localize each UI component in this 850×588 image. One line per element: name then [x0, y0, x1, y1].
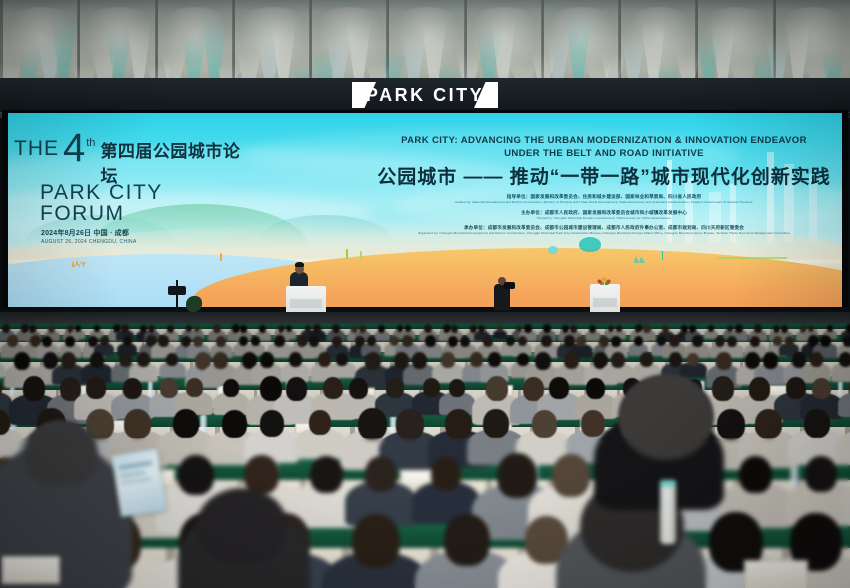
logo-date-en: AUGUST 26, 2024 CHENGDU, CHINA: [41, 239, 244, 245]
attendee-head: [100, 336, 109, 346]
organizer-line-2: 主办单位：成都市人民政府、国家发展和改革委员会城市和小城镇改革发展中心 Host…: [358, 210, 842, 221]
attendee-head: [739, 456, 772, 493]
logo-ordinal: th: [86, 137, 95, 149]
attendee-head: [483, 409, 509, 438]
attendee-head: [178, 455, 214, 495]
logo-the: THE: [14, 139, 59, 159]
attendee-head: [75, 325, 81, 332]
attendee-head: [94, 325, 100, 332]
organizer-2-en: Hosted by: Chengdu Municipal People's Go…: [358, 216, 842, 221]
attendee-head: [750, 336, 760, 347]
attendee-head: [48, 325, 55, 333]
attendee-head: [260, 352, 274, 368]
attendee-head: [158, 335, 169, 347]
attendee-head: [260, 410, 284, 437]
attendee-head: [460, 336, 470, 347]
attendee-head: [640, 352, 653, 367]
attendee-head: [323, 377, 343, 399]
attendee-head: [396, 409, 424, 440]
foreground-attendee-center-head: [196, 488, 288, 566]
attendee-head: [173, 409, 199, 438]
attendee-head: [786, 377, 806, 399]
attendee-head: [716, 352, 732, 370]
attendee-head: [137, 352, 150, 367]
attendee-head: [586, 378, 605, 399]
attendee-head: [309, 410, 331, 435]
attendee-head: [470, 352, 483, 367]
tripod-leg: [176, 280, 178, 312]
attendee-head: [193, 336, 203, 347]
attendee-head: [717, 409, 745, 440]
attendee-head: [564, 352, 579, 369]
attendee-head: [425, 335, 436, 347]
attendee-head: [735, 324, 743, 333]
floral-arrangement: [596, 276, 614, 285]
attendee-head: [518, 336, 527, 346]
attendee-head: [359, 325, 366, 333]
attendee-head: [669, 352, 682, 367]
attendee-head: [349, 378, 368, 399]
attendee-head: [167, 325, 174, 333]
organizer-line-1: 指导单位：国家发展和改革委员会、住房和城乡建设部、国家林业和草原局、四川省人民政…: [358, 194, 842, 205]
organizer-line-3: 承办单位：成都市发展和改革委员会、成都市公园城市建设管理局、成都市人民政府外事办…: [358, 225, 842, 236]
headline-chinese: 公园城市 —— 推动“一带一路”城市现代化创新实践: [358, 167, 842, 189]
water-bottle: [838, 381, 843, 396]
attendee-head: [378, 325, 385, 333]
attendee-head: [754, 324, 762, 333]
thermos-flask: [660, 480, 676, 544]
attendee-head: [669, 335, 680, 347]
attendee-head: [689, 325, 696, 333]
attendee-head: [687, 353, 699, 366]
attendee-head: [223, 379, 239, 397]
attendee-head: [843, 336, 850, 347]
video-camera-icon: [504, 282, 515, 289]
attendee-head: [148, 325, 155, 333]
foreground-attendee-left-head: [24, 420, 98, 486]
attendee-head: [497, 325, 503, 332]
attendee-head: [412, 352, 427, 369]
attendee-head: [820, 335, 831, 347]
led-screen: THE 4 th 第四届公园城市论坛 PARK CITY FORUM 2024年…: [8, 113, 842, 310]
attendee-head: [213, 324, 221, 333]
attendee-head: [222, 410, 247, 438]
attendee-head: [549, 377, 569, 399]
name-card: [2, 556, 60, 584]
attendee-head: [810, 352, 823, 367]
attendee-head: [286, 325, 292, 332]
attendee-head: [708, 325, 714, 332]
attendee-head: [449, 379, 465, 397]
water-bottle: [148, 381, 153, 396]
attendee-head: [240, 325, 247, 333]
attendee-head: [186, 378, 203, 397]
attendee-head: [781, 325, 788, 333]
attendee-head: [535, 352, 551, 370]
attendee-head: [424, 324, 432, 333]
attendee-head: [65, 336, 75, 347]
stage-plant: [186, 296, 202, 312]
attendee-head: [166, 353, 178, 366]
attendee-head: [727, 336, 737, 347]
attendee-head: [541, 335, 552, 347]
attendee-head: [497, 453, 537, 498]
attendee-head: [524, 324, 532, 333]
attendee-head: [23, 376, 45, 401]
attendee-head: [358, 408, 387, 440]
attendee-head: [755, 409, 782, 439]
program-booklet: [111, 449, 166, 517]
attendee-head: [318, 352, 331, 367]
name-card: [744, 560, 808, 588]
attendee-head: [309, 336, 319, 347]
attendee-head: [367, 336, 376, 346]
attendee-head: [286, 377, 307, 401]
audience-area: [0, 312, 850, 588]
attendee-head: [289, 352, 302, 367]
attendee-head: [611, 336, 621, 347]
screen-headline: PARK CITY: ADVANCING THE URBAN MODERNIZA…: [358, 135, 842, 236]
attendee-head: [478, 325, 485, 333]
attendee-head: [662, 325, 669, 333]
attendee-head: [805, 456, 837, 492]
organizer-1-en: Guided by: National Development and Refo…: [358, 200, 842, 205]
attendee-head: [488, 352, 501, 367]
attendee-head: [42, 336, 52, 347]
attendee-head: [160, 378, 178, 398]
attendee-head: [365, 352, 381, 370]
attendee-head: [576, 336, 586, 347]
attendee-head: [451, 325, 458, 333]
attendee-head: [259, 325, 266, 333]
attendee-head: [124, 409, 151, 439]
attendee-head: [274, 335, 285, 347]
attendee-head: [402, 335, 413, 347]
attendee-head: [119, 352, 132, 367]
attendee-head: [552, 454, 590, 497]
attendee-head: [532, 410, 557, 438]
conference-hall-scene: PARK CITY: [0, 0, 850, 588]
attendee-head: [616, 325, 622, 332]
attendee-head: [808, 325, 814, 332]
attendee-head: [634, 336, 643, 346]
attendee-head: [123, 336, 132, 346]
logo-line-forum: FORUM: [40, 203, 244, 224]
attendee-head: [123, 378, 142, 399]
attendee-head: [332, 336, 342, 347]
attendee-head: [517, 353, 529, 366]
attendee-head: [431, 457, 461, 491]
attendee-head: [29, 325, 36, 333]
attendee-head: [310, 456, 343, 493]
attendee-head: [194, 325, 200, 332]
attendee-head: [785, 336, 794, 346]
attendee-head: [483, 336, 493, 347]
logo-chinese-title: 第四届公园城市论坛: [100, 137, 244, 187]
attendee-head: [712, 376, 734, 401]
venue-banner: PARK CITY: [0, 78, 850, 112]
attendee-head: [444, 514, 490, 566]
organizer-3-en: Organized by: Chengdu Municipal Developm…: [358, 231, 842, 236]
attendee-head: [804, 409, 830, 438]
attendee-head: [445, 409, 472, 439]
attendee-head: [86, 377, 106, 399]
attendee-head: [692, 335, 703, 347]
attendee-head: [336, 353, 348, 366]
headline-english-line2: UNDER THE BELT AND ROAD INITIATIVE: [358, 148, 842, 160]
attendee-head: [749, 377, 770, 401]
attendee-head: [581, 410, 605, 437]
attendee-head: [812, 378, 831, 399]
illustration-plant-icon: [346, 249, 348, 259]
attendee-head: [386, 378, 404, 398]
attendee-head: [589, 325, 596, 333]
headline-english-line1: PARK CITY: ADVANCING THE URBAN MODERNIZA…: [358, 135, 842, 147]
logo-numeral: 4: [63, 131, 85, 165]
attendee-head: [643, 324, 651, 333]
illustration-tree-icon: [579, 237, 601, 252]
logo-date-cn: 2024年8月26日 中国 · 成都: [41, 228, 244, 238]
attendee-head: [332, 324, 340, 333]
attendee-head: [251, 336, 260, 346]
attendee-head: [2, 324, 10, 333]
attendee-head: [486, 376, 508, 401]
venue-banner-text: PARK CITY: [0, 85, 850, 106]
attendee-head: [213, 352, 228, 369]
attendee-head: [121, 324, 129, 333]
forum-logo: THE 4 th 第四届公园城市论坛 PARK CITY FORUM 2024年…: [14, 135, 244, 245]
attendee-head: [90, 352, 104, 368]
attendee-head: [839, 352, 850, 367]
attendee-head: [352, 514, 400, 568]
attendee-head: [313, 324, 321, 333]
attendee-head: [570, 325, 577, 333]
attendee-head: [441, 352, 455, 368]
attendee-head: [405, 325, 411, 332]
attendee-head: [611, 352, 625, 368]
attendee-head: [365, 456, 397, 492]
attendee-head: [827, 325, 833, 332]
foreground-attendee-far-right-head: [618, 374, 714, 460]
attendee-head: [61, 352, 76, 369]
attendee-head: [216, 336, 226, 347]
attendee-head: [423, 378, 440, 397]
attendee-head: [7, 335, 18, 347]
attendee-head: [763, 352, 778, 369]
attendee-head: [543, 324, 551, 333]
attendee-head: [14, 352, 30, 370]
camera-rig-icon: [168, 286, 186, 295]
